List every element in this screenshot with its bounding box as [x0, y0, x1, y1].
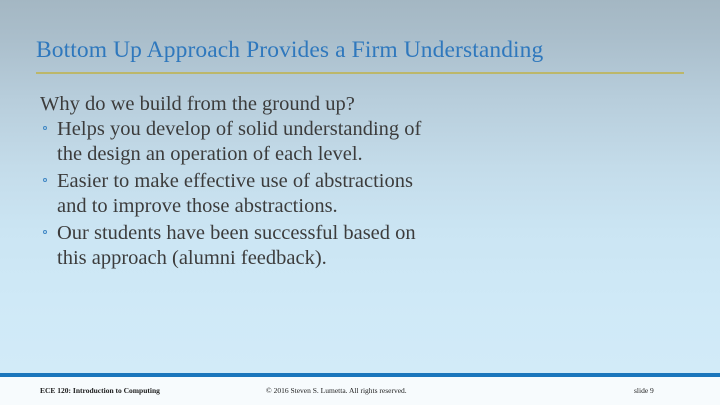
list-item: Helps you develop of solid understanding… — [38, 117, 668, 166]
bullet-list: Helps you develop of solid understanding… — [38, 117, 668, 270]
bullet-circle-icon — [43, 230, 47, 234]
list-item-line-2: this approach (alumni feedback). — [57, 246, 668, 271]
list-item-text: Our students have been successful based … — [57, 221, 668, 270]
footer-slide-number: slide 9 — [634, 386, 654, 396]
list-item-text: Helps you develop of solid understanding… — [57, 117, 668, 166]
slide-title-container: Bottom Up Approach Provides a Firm Under… — [36, 36, 686, 64]
slide-body: Why do we build from the ground up? Help… — [38, 92, 668, 273]
list-item-line-2: and to improve those abstractions. — [57, 194, 668, 219]
presentation-slide: Bottom Up Approach Provides a Firm Under… — [0, 0, 720, 405]
intro-question: Why do we build from the ground up? — [38, 92, 668, 116]
list-item-text: Easier to make effective use of abstract… — [57, 169, 668, 218]
title-divider-rule — [36, 72, 684, 74]
page-title: Bottom Up Approach Provides a Firm Under… — [36, 36, 686, 64]
list-item: Our students have been successful based … — [38, 221, 668, 270]
list-item-line-2: the design an operation of each level. — [57, 142, 668, 167]
list-item-line-1: Easier to make effective use of abstract… — [57, 170, 413, 192]
footer-copyright-label: © 2016 Steven S. Lumetta. All rights res… — [266, 386, 407, 396]
bullet-circle-icon — [43, 126, 47, 130]
footer-course-label: ECE 120: Introduction to Computing — [40, 386, 160, 396]
list-item-line-1: Helps you develop of solid understanding… — [57, 118, 421, 140]
list-item-line-1: Our students have been successful based … — [57, 222, 416, 244]
list-item: Easier to make effective use of abstract… — [38, 169, 668, 218]
bullet-circle-icon — [43, 178, 47, 182]
